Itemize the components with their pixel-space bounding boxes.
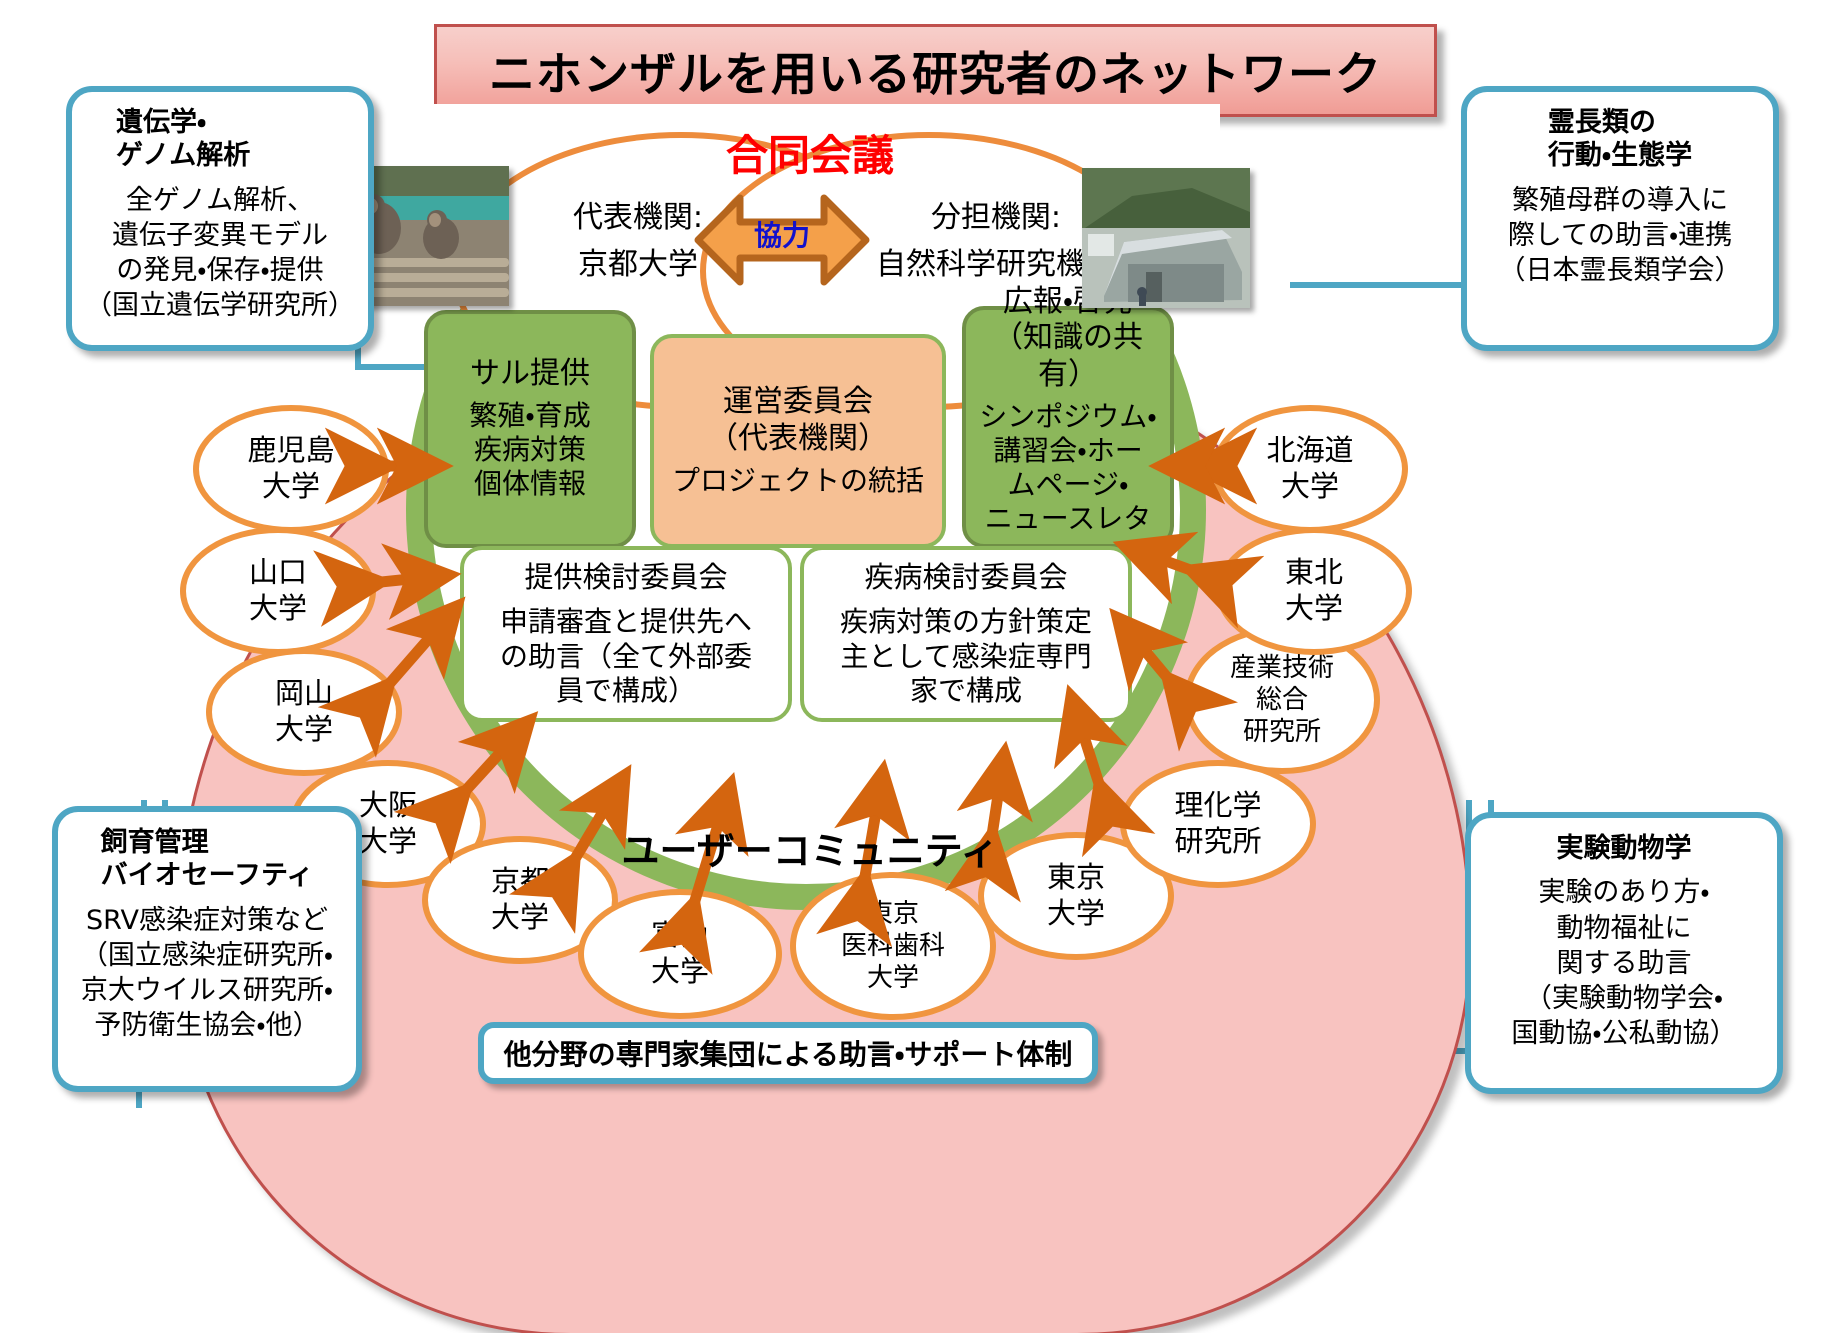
university-riken[interactable]: 理化学 研究所 [1120, 760, 1316, 888]
callout-box-husbandry[interactable]: 飼育管理 バイオセーフティ SRV感染症対策など （国立感染症研究所・ 京大ウイ… [52, 806, 362, 1092]
callout-box-labanimal[interactable]: 実験動物学 実験のあり方・ 動物福祉に 関する助言 （実験動物学会・ 国動協・公… [1465, 812, 1783, 1094]
page-title-text: ニホンザルを用いる研究者のネットワーク [489, 38, 1382, 104]
callout-box-primatology-body: 繁殖母群の導入に 際しての助言・連携 （日本霊長類学会） [1499, 183, 1742, 288]
function-box-steering[interactable]: 運営委員会 （代表機関） プロジェクトの統括 [650, 334, 946, 548]
function-box-disease-review-body: 疾病対策の方針策定 主として感染症専門 家で構成 [840, 605, 1092, 707]
callout-box-labanimal-title: 実験動物学 [1557, 832, 1692, 865]
callout-box-husbandry-body: SRV感染症対策など （国立感染症研究所・ 京大ウイルス研究所・ 予防衛生協会・… [81, 903, 333, 1043]
function-box-supply-review-body: 申請審査と提供先へ の助言（全て外部委 員で構成） [500, 605, 752, 707]
university-tohoku[interactable]: 東北 大学 [1216, 527, 1412, 655]
joint-meeting-label: 合同会議 [700, 122, 920, 183]
callout-box-genetics-title: 遺伝学・ ゲノム解析 [116, 106, 250, 173]
university-okayama[interactable]: 岡山 大学 [206, 648, 402, 776]
function-box-supply-review[interactable]: 提供検討委員会 申請審査と提供先へ の助言（全て外部委 員で構成） [460, 546, 792, 722]
callout-box-labanimal-body: 実験のあり方・ 動物福祉に 関する助言 （実験動物学会・ 国動協・公私動協） [1511, 875, 1736, 1050]
function-box-supply[interactable]: サル提供 繁殖・育成 疾病対策 個体情報 [424, 310, 636, 548]
university-toyama[interactable]: 富山 大学 [578, 889, 782, 1019]
function-box-disease-review[interactable]: 疾病検討委員会 疾病対策の方針策定 主として感染症専門 家で構成 [800, 546, 1132, 722]
function-box-outreach[interactable]: 広報・啓発 （知識の共有） シンポジウム・ 講習会・ホー ムページ・ ニュースレ… [962, 306, 1174, 548]
university-kagoshima[interactable]: 鹿児島 大学 [193, 405, 389, 533]
bottom-caption: 他分野の専門家集団による助言・サポート体制 [478, 1022, 1098, 1084]
function-box-supply-body: 繁殖・育成 疾病対策 個体情報 [469, 399, 591, 501]
cooperation-label: 協力 [694, 214, 870, 254]
bottom-caption-text: 他分野の専門家集団による助言・サポート体制 [504, 1033, 1073, 1073]
facility-photo [1082, 168, 1250, 308]
connector-primatology-horizontal [1290, 282, 1470, 288]
university-yamaguchi[interactable]: 山口 大学 [180, 527, 376, 655]
university-hokkaido[interactable]: 北海道 大学 [1212, 405, 1408, 533]
callout-box-husbandry-title: 飼育管理 バイオセーフティ [101, 826, 314, 893]
callout-box-genetics-body: 全ゲノム解析、 遺伝子変異モデル の発見・保存・提供 （国立遺伝学研究所） [85, 183, 355, 323]
function-box-supply-review-head: 提供検討委員会 [524, 560, 727, 595]
diagram-canvas: 合同会議 代表機関: 京都大学 分担機関: 自然科学研究機構 協力 [0, 0, 1836, 1333]
function-box-outreach-body: シンポジウム・ 講習会・ホー ムページ・ ニュースレター [974, 400, 1162, 571]
callout-box-genetics[interactable]: 遺伝学・ ゲノム解析 全ゲノム解析、 遺伝子変異モデル の発見・保存・提供 （国… [66, 86, 374, 351]
function-box-supply-head: サル提供 [470, 356, 590, 393]
function-box-steering-body: プロジェクトの統括 [672, 464, 924, 498]
university-tmdu[interactable]: 東京 医科歯科 大学 [790, 872, 996, 1020]
function-box-disease-review-head: 疾病検討委員会 [864, 560, 1067, 595]
callout-box-primatology-title: 霊長類の 行動・生態学 [1548, 106, 1692, 173]
user-community-label: ユーザーコミュニティ [600, 820, 1020, 875]
function-box-steering-head: 運営委員会 （代表機関） [708, 384, 888, 457]
callout-box-primatology[interactable]: 霊長類の 行動・生態学 繁殖母群の導入に 際しての助言・連携 （日本霊長類学会） [1461, 86, 1779, 351]
